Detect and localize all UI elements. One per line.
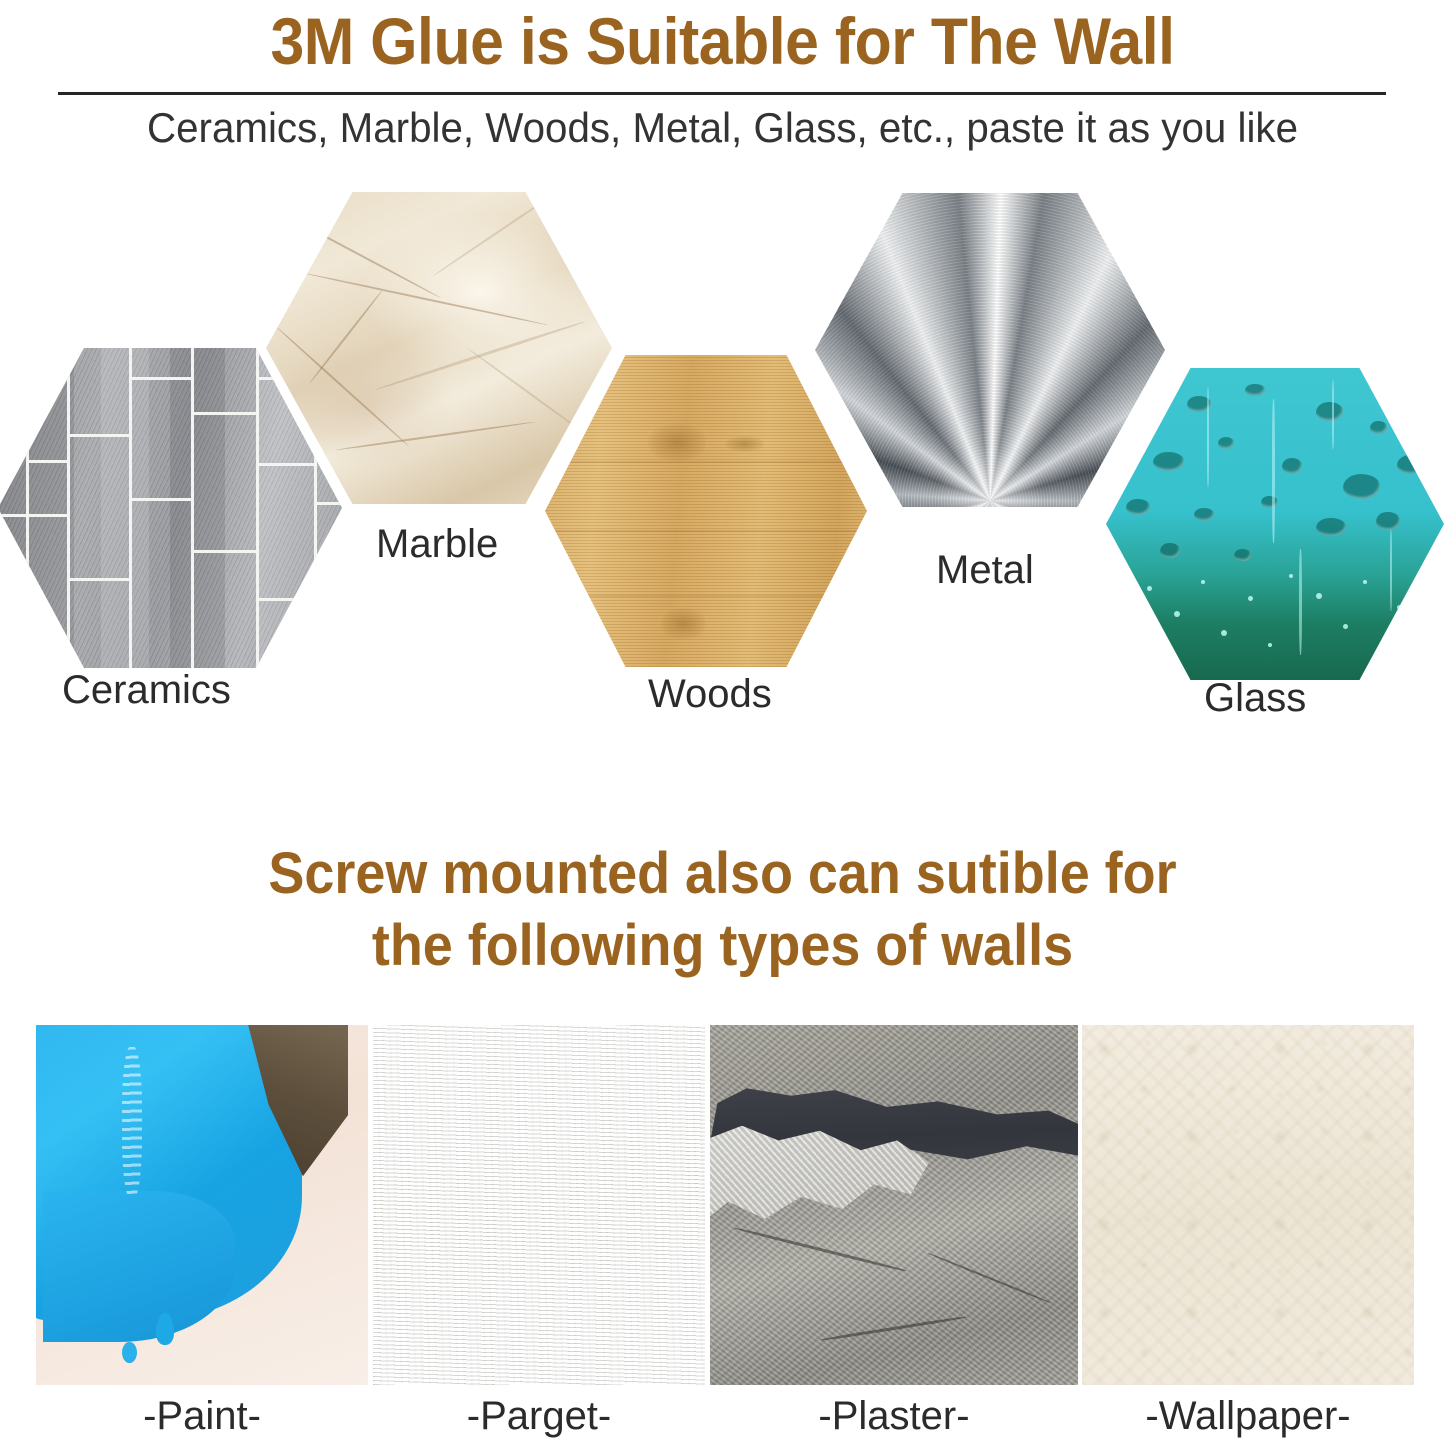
hex-label-metal: Metal bbox=[936, 548, 1034, 592]
marble-texture bbox=[266, 192, 612, 504]
hex-label-woods: Woods bbox=[648, 672, 772, 716]
walls-heading-line2: the following types of walls bbox=[51, 910, 1395, 982]
wall-caption-parget: -Parget- bbox=[373, 1393, 705, 1439]
walls-heading-line1: Screw mounted also can sutible for bbox=[51, 838, 1395, 910]
wall-caption-wallpaper: -Wallpaper- bbox=[1082, 1393, 1414, 1439]
hex-swatch-marble bbox=[266, 192, 612, 504]
hex-swatch-ceramics bbox=[0, 348, 342, 668]
hex-swatch-metal bbox=[815, 193, 1165, 507]
wall-caption-paint: -Paint- bbox=[36, 1393, 368, 1439]
hex-label-ceramics: Ceramics bbox=[62, 668, 231, 712]
wall-photo-plaster bbox=[710, 1025, 1078, 1385]
material-hexagon-group: Ceramics Marble bbox=[0, 0, 1445, 780]
wall-caption-plaster: -Plaster- bbox=[710, 1393, 1078, 1439]
infographic-page: 3M Glue is Suitable for The Wall Ceramic… bbox=[0, 0, 1445, 1444]
hex-label-glass: Glass bbox=[1204, 676, 1306, 720]
metal-sheen bbox=[815, 193, 1165, 507]
walls-heading: Screw mounted also can sutible for the f… bbox=[51, 838, 1395, 982]
wall-photo-paint bbox=[36, 1025, 368, 1385]
hex-swatch-woods bbox=[545, 355, 867, 667]
hex-swatch-glass bbox=[1106, 368, 1444, 680]
hex-label-marble: Marble bbox=[376, 522, 498, 566]
woods-texture bbox=[545, 355, 867, 667]
wall-photo-strip bbox=[0, 1025, 1445, 1385]
wall-photo-parget bbox=[373, 1025, 705, 1385]
wall-photo-wallpaper bbox=[1082, 1025, 1414, 1385]
